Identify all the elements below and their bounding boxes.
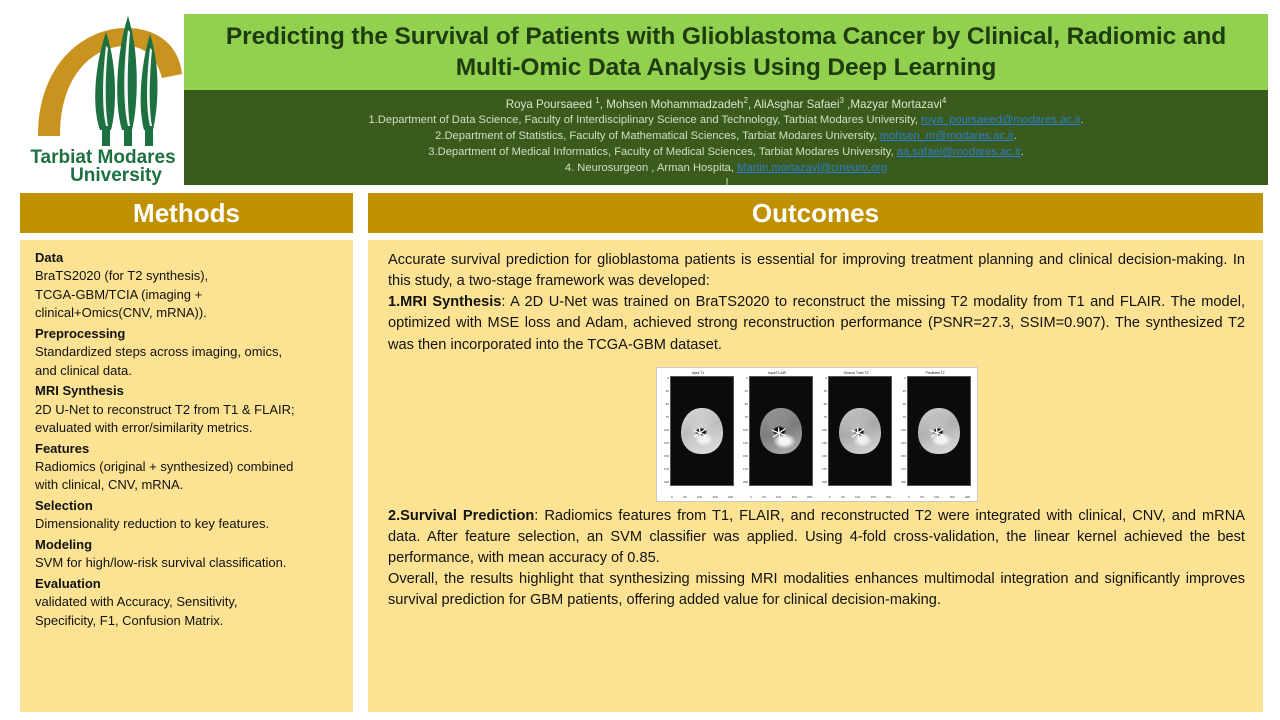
mri-panel-input-flair: Input FLAIR 0 25 50 75 100 125 150 175 2… <box>739 371 816 499</box>
center-tick-mark <box>726 178 728 185</box>
mri-image-ground-truth-t2 <box>828 376 892 486</box>
x-tick: 150 <box>949 495 954 499</box>
y-tick: 100 <box>822 428 827 432</box>
x-tick: 100 <box>776 495 781 499</box>
x-tick: 0 <box>908 495 910 499</box>
mri-panel-title-ground-truth-t2: Ground Truth T2 <box>844 371 869 375</box>
affiliation-1-text: 1.Department of Data Science, Faculty of… <box>368 114 921 126</box>
author-2-name: , Mohsen Mohammadzadeh <box>600 98 744 111</box>
y-tick: 150 <box>822 454 827 458</box>
y-tick: 175 <box>664 467 669 471</box>
author-3-name: , AliAsghar Safaei <box>748 98 840 111</box>
y-tick: 200 <box>901 480 906 484</box>
methods-heading-preprocessing: Preprocessing <box>35 325 341 343</box>
affiliation-2: 2.Department of Statistics, Faculty of M… <box>184 129 1268 145</box>
methods-body-selection: Dimensionality reduction to key features… <box>35 515 341 533</box>
x-tick: 200 <box>728 495 733 499</box>
ventricle-shape <box>771 427 785 439</box>
methods-heading-mri-synthesis: MRI Synthesis <box>35 382 341 400</box>
y-tick: 0 <box>746 376 748 380</box>
outcomes-section-header: Outcomes <box>368 193 1263 233</box>
affiliation-2-email-link[interactable]: mohsen_m@modares.ac.ir <box>880 130 1014 142</box>
mri-panel-title-input-flair: Input FLAIR <box>768 371 786 375</box>
x-tick: 50 <box>920 495 923 499</box>
y-tick: 75 <box>903 415 906 419</box>
y-tick: 50 <box>824 402 827 406</box>
ventricle-shape <box>929 427 943 439</box>
outcomes-panel: Accurate survival prediction for gliobla… <box>368 240 1263 712</box>
x-tick: 50 <box>841 495 844 499</box>
x-tick: 100 <box>934 495 939 499</box>
affiliation-4-text: 4. Neurosurgeon , Arman Hospita, <box>565 162 737 174</box>
affiliation-3: 3.Department of Medical Informatics, Fac… <box>184 145 1268 161</box>
y-tick: 0 <box>825 376 827 380</box>
mri-panel-input-t1: Input T1 0 25 50 75 100 125 150 175 200 <box>660 371 737 499</box>
author-4-sup: 4 <box>942 96 946 105</box>
y-tick: 25 <box>824 389 827 393</box>
y-tick: 50 <box>666 402 669 406</box>
methods-body-data: BraTS2020 (for T2 synthesis),TCGA-GBM/TC… <box>35 267 341 322</box>
x-tick: 0 <box>750 495 752 499</box>
outcomes-intro-paragraph: Accurate survival prediction for gliobla… <box>388 250 1245 292</box>
poster-root: Tarbiat Modares University Predicting th… <box>0 0 1280 720</box>
mri-x-axis-input-flair: 0 50 100 150 200 <box>750 494 812 499</box>
x-tick: 50 <box>762 495 765 499</box>
y-tick: 100 <box>743 428 748 432</box>
mri-panel-predicted-t2: Predicted T2 0 25 50 75 100 125 150 175 … <box>897 371 974 499</box>
affiliation-2-tail: . <box>1014 130 1017 142</box>
x-tick: 150 <box>870 495 875 499</box>
ventricle-shape <box>692 427 706 439</box>
mri-panel-ground-truth-t2: Ground Truth T2 0 25 50 75 100 125 150 1… <box>818 371 895 499</box>
methods-body-mri-synthesis: 2D U-Net to reconstruct T2 from T1 & FLA… <box>35 401 341 438</box>
author-4-name: ,Mazyar Mortazavi <box>844 98 942 111</box>
y-tick: 125 <box>664 441 669 445</box>
outcomes-section-title: Outcomes <box>752 198 879 229</box>
y-tick: 25 <box>745 389 748 393</box>
mri-comparison-figure: Input T1 0 25 50 75 100 125 150 175 200 <box>656 367 978 502</box>
affiliation-4: 4. Neurosurgeon , Arman Hospita, Martin.… <box>184 161 1268 177</box>
affiliation-3-text: 3.Department of Medical Informatics, Fac… <box>428 146 896 158</box>
affiliation-3-tail: . <box>1021 146 1024 158</box>
x-tick: 0 <box>671 495 673 499</box>
x-tick: 150 <box>791 495 796 499</box>
y-tick: 200 <box>822 480 827 484</box>
x-tick: 50 <box>683 495 686 499</box>
methods-heading-data: Data <box>35 249 341 267</box>
y-tick: 175 <box>822 467 827 471</box>
methods-section-title: Methods <box>133 198 240 229</box>
y-tick: 175 <box>743 467 748 471</box>
x-tick: 200 <box>965 495 970 499</box>
affiliation-1-email-link[interactable]: roya_poursaeed@modares.ac.ir <box>921 114 1080 126</box>
outcomes-item-1-text: : A 2D U-Net was trained on BraTS2020 to… <box>388 294 1245 352</box>
poster-title-bar: Predicting the Survival of Patients with… <box>184 14 1268 90</box>
y-tick: 175 <box>901 467 906 471</box>
x-tick: 150 <box>712 495 717 499</box>
affiliation-4-email-link[interactable]: Martin.mortazavi@cineuro.org <box>737 162 887 174</box>
page-title: Predicting the Survival of Patients with… <box>194 21 1258 84</box>
y-tick: 200 <box>664 480 669 484</box>
mri-x-axis-ground-truth-t2: 0 50 100 150 200 <box>829 494 891 499</box>
y-tick: 25 <box>666 389 669 393</box>
y-tick: 125 <box>901 441 906 445</box>
y-tick: 100 <box>664 428 669 432</box>
methods-heading-features: Features <box>35 440 341 458</box>
affiliation-3-email-link[interactable]: aa.safaei@modares.ac.ir <box>897 146 1021 158</box>
mri-x-axis-input-t1: 0 50 100 150 200 <box>671 494 733 499</box>
y-tick: 125 <box>743 441 748 445</box>
author-1-name: Roya Poursaeed <box>506 98 596 111</box>
y-tick: 150 <box>901 454 906 458</box>
methods-heading-modeling: Modeling <box>35 536 341 554</box>
mri-y-axis-ground-truth-t2: 0 25 50 75 100 125 150 175 200 <box>820 376 828 484</box>
logo-text-line2: University <box>70 165 162 186</box>
x-tick: 100 <box>697 495 702 499</box>
methods-heading-selection: Selection <box>35 497 341 515</box>
methods-body-modeling: SVM for high/low-risk survival classific… <box>35 554 341 572</box>
x-tick: 200 <box>886 495 891 499</box>
y-tick: 75 <box>824 415 827 419</box>
y-tick: 50 <box>745 402 748 406</box>
outcomes-closing-paragraph: Overall, the results highlight that synt… <box>388 569 1245 611</box>
mri-image-predicted-t2 <box>907 376 971 486</box>
y-tick: 200 <box>743 480 748 484</box>
outcomes-item-2-label: 2.Survival Prediction <box>388 508 534 524</box>
y-tick: 0 <box>904 376 906 380</box>
logo-graphic: Tarbiat Modares University <box>22 8 184 186</box>
mri-axes-ground-truth-t2: 0 25 50 75 100 125 150 175 200 <box>820 376 892 494</box>
methods-body-evaluation: validated with Accuracy, Sensitivity,Spe… <box>35 593 341 630</box>
methods-body-preprocessing: Standardized steps across imaging, omics… <box>35 343 341 380</box>
y-tick: 50 <box>903 402 906 406</box>
y-tick: 150 <box>664 454 669 458</box>
outcomes-item-1-label: 1.MRI Synthesis <box>388 294 501 310</box>
outcomes-item-2: 2.Survival Prediction: Radiomics feature… <box>388 506 1245 569</box>
affiliation-1-tail: . <box>1080 114 1083 126</box>
mri-axes-input-flair: 0 25 50 75 100 125 150 175 200 <box>741 376 813 494</box>
x-tick: 100 <box>855 495 860 499</box>
y-tick: 150 <box>743 454 748 458</box>
y-tick: 100 <box>901 428 906 432</box>
methods-section-header: Methods <box>20 193 353 233</box>
author-names: Roya Poursaeed 1, Mohsen Mohammadzadeh2,… <box>184 95 1268 113</box>
y-tick: 75 <box>745 415 748 419</box>
mri-axes-predicted-t2: 0 25 50 75 100 125 150 175 200 <box>899 376 971 494</box>
mri-image-input-t1 <box>670 376 734 486</box>
mri-y-axis-input-t1: 0 25 50 75 100 125 150 175 200 <box>662 376 670 484</box>
x-tick: 0 <box>829 495 831 499</box>
ventricle-shape <box>850 427 864 439</box>
mri-panel-title-input-t1: Input T1 <box>692 371 704 375</box>
affiliation-1: 1.Department of Data Science, Faculty of… <box>184 113 1268 129</box>
mri-x-axis-predicted-t2: 0 50 100 150 200 <box>908 494 970 499</box>
outcomes-item-1: 1.MRI Synthesis: A 2D U-Net was trained … <box>388 292 1245 355</box>
x-tick: 200 <box>807 495 812 499</box>
methods-panel: Data BraTS2020 (for T2 synthesis),TCGA-G… <box>20 240 353 712</box>
y-tick: 75 <box>666 415 669 419</box>
mri-image-input-flair <box>749 376 813 486</box>
methods-body-features: Radiomics (original + synthesized) combi… <box>35 458 341 495</box>
mri-y-axis-predicted-t2: 0 25 50 75 100 125 150 175 200 <box>899 376 907 484</box>
mri-axes-input-t1: 0 25 50 75 100 125 150 175 200 <box>662 376 734 494</box>
mri-panel-title-predicted-t2: Predicted T2 <box>925 371 944 375</box>
methods-heading-evaluation: Evaluation <box>35 575 341 593</box>
y-tick: 125 <box>822 441 827 445</box>
authors-block: Roya Poursaeed 1, Mohsen Mohammadzadeh2,… <box>184 90 1268 185</box>
university-logo: Tarbiat Modares University <box>22 8 184 186</box>
y-tick: 0 <box>667 376 669 380</box>
y-tick: 25 <box>903 389 906 393</box>
affiliation-2-text: 2.Department of Statistics, Faculty of M… <box>435 130 880 142</box>
mri-y-axis-input-flair: 0 25 50 75 100 125 150 175 200 <box>741 376 749 484</box>
